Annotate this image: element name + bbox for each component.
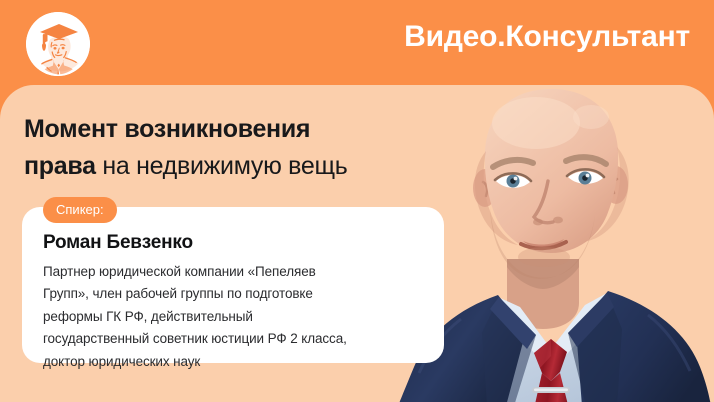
headline-bold-2: права bbox=[24, 152, 96, 180]
speaker-card: Спикер: Роман Бевзенко Партнер юридическ… bbox=[22, 207, 444, 363]
speaker-name: Роман Бевзенко bbox=[43, 232, 193, 254]
brand-title: Видео.Консультант bbox=[404, 17, 690, 57]
content-panel: Момент возникновения права на недвижимую… bbox=[0, 85, 714, 402]
slide-header: Видео.Консультант bbox=[0, 0, 714, 86]
graduate-professor-icon bbox=[26, 12, 90, 76]
speaker-bio: Партнер юридической компании «Пепеляев Г… bbox=[43, 261, 435, 373]
presentation-slide: Видео.Консультант bbox=[0, 0, 714, 402]
bio-line: доктор юридических наук bbox=[43, 351, 435, 373]
bio-line: Партнер юридической компании «Пепеляев bbox=[43, 261, 435, 283]
page-title: Момент возникновения права на недвижимую… bbox=[24, 111, 454, 185]
bio-line: государственный советник юстиции РФ 2 кл… bbox=[43, 328, 435, 350]
headline-regular: на недвижимую вещь bbox=[96, 152, 348, 180]
bio-line: Групп», член рабочей группы по подготовк… bbox=[43, 283, 435, 305]
status-badge: Спикер: bbox=[43, 197, 117, 223]
bio-line: реформы ГК РФ, действительный bbox=[43, 306, 435, 328]
headline-bold-1: Момент возникновения bbox=[24, 115, 310, 143]
